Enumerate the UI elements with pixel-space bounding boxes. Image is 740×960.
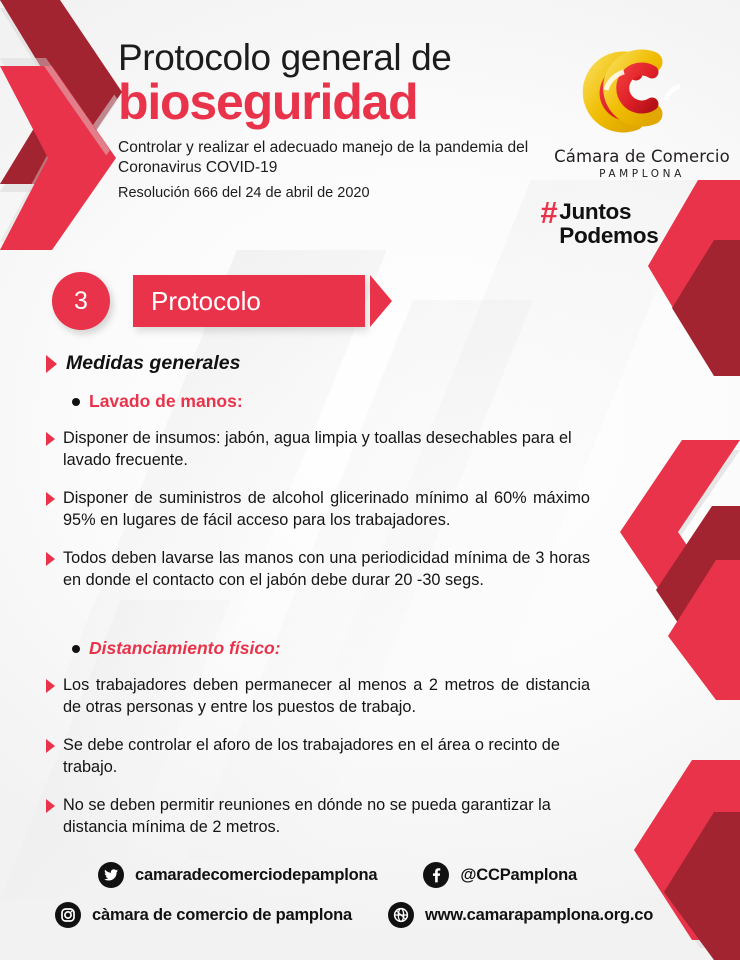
- triangle-bullet-icon: [46, 492, 55, 506]
- title-block: Protocolo general de bioseguridad Contro…: [118, 36, 538, 202]
- logo-org-name: Cámara de Comercio: [548, 147, 736, 166]
- website-url-text: www.camarapamplona.org.co: [425, 906, 653, 925]
- list-item-text: Se debe controlar el aforo de los trabaj…: [63, 735, 590, 778]
- campaign-hashtag: # JuntosPodemos: [540, 200, 658, 248]
- list-item-text: Disponer de suministros de alcohol glice…: [63, 488, 590, 531]
- poster-content: Medidas generales Lavado de manos: Dispo…: [0, 352, 740, 855]
- list-item: Los trabajadores deben permanecer al men…: [46, 675, 590, 718]
- footer-row-2: càmara de comercio de pamplona www.camar…: [0, 902, 740, 928]
- facebook-icon: [423, 862, 449, 888]
- list-item-text: Todos deben lavarse las manos con una pe…: [63, 548, 590, 591]
- subsection-label: Lavado de manos:: [89, 391, 243, 412]
- poster-page: Protocolo general de bioseguridad Contro…: [0, 0, 740, 960]
- resolution-text: Resolución 666 del 24 de abril de 2020: [118, 184, 538, 202]
- hash-symbol: #: [540, 200, 557, 225]
- poster-header: Protocolo general de bioseguridad Contro…: [0, 0, 740, 262]
- list-item-text: Los trabajadores deben permanecer al men…: [63, 675, 590, 718]
- triangle-bullet-icon: [46, 739, 55, 753]
- list-item: Se debe controlar el aforo de los trabaj…: [46, 735, 590, 778]
- section-spacer: [0, 608, 740, 638]
- section-number-badge: 3: [52, 272, 110, 330]
- hashtag-words: JuntosPodemos: [559, 200, 658, 248]
- page-title-line1: Protocolo general de: [118, 36, 538, 79]
- triangle-bullet-icon: [46, 679, 55, 693]
- page-subtitle: Controlar y realizar el adecuado manejo …: [118, 138, 538, 177]
- list-item: Disponer de suministros de alcohol glice…: [46, 488, 590, 531]
- bullet-dot-icon: [72, 398, 80, 406]
- list-item-text: No se deben permitir reuniones en dónde …: [63, 795, 590, 838]
- subsection-label: Distanciamiento físico:: [89, 638, 281, 659]
- triangle-bullet-icon: [46, 799, 55, 813]
- organization-logo: Cámara de Comercio PAMPLONA: [548, 38, 736, 180]
- poster-footer: camaradecomerciodepamplona @CCPamplona c…: [0, 862, 740, 942]
- logo-city-name: PAMPLONA: [548, 168, 736, 180]
- globe-icon: [388, 902, 414, 928]
- triangle-bullet-icon: [46, 432, 55, 446]
- bullet-dot-icon: [72, 645, 80, 653]
- list-item: Todos deben lavarse las manos con una pe…: [46, 548, 590, 591]
- cp-monogram-icon: [548, 38, 736, 146]
- facebook-handle-text: @CCPamplona: [460, 866, 577, 885]
- instagram-handle[interactable]: càmara de comercio de pamplona: [55, 902, 352, 928]
- twitter-handle-text: camaradecomerciodepamplona: [135, 866, 377, 885]
- list-item-text: Disponer de insumos: jabón, agua limpia …: [63, 428, 590, 471]
- facebook-handle[interactable]: @CCPamplona: [423, 862, 577, 888]
- measures-title-text: Medidas generales: [66, 352, 241, 375]
- triangle-marker-icon: [46, 355, 57, 373]
- subsection-heading-distancing: Distanciamiento físico:: [72, 638, 740, 659]
- list-item: No se deben permitir reuniones en dónde …: [46, 795, 590, 838]
- subsection-heading-handwashing: Lavado de manos:: [72, 391, 740, 412]
- instagram-icon: [55, 902, 81, 928]
- list-item: Disponer de insumos: jabón, agua limpia …: [46, 428, 590, 471]
- website-link[interactable]: www.camarapamplona.org.co: [388, 902, 653, 928]
- section-title-bar: Protocolo: [133, 275, 365, 327]
- page-title-line2: bioseguridad: [118, 75, 538, 129]
- instagram-handle-text: càmara de comercio de pamplona: [92, 906, 352, 925]
- twitter-handle[interactable]: camaradecomerciodepamplona: [98, 862, 377, 888]
- triangle-bullet-icon: [46, 552, 55, 566]
- footer-row-1: camaradecomerciodepamplona @CCPamplona: [0, 862, 740, 888]
- measures-heading: Medidas generales: [46, 352, 740, 375]
- banner-arrow-icon: [370, 275, 392, 327]
- twitter-icon: [98, 862, 124, 888]
